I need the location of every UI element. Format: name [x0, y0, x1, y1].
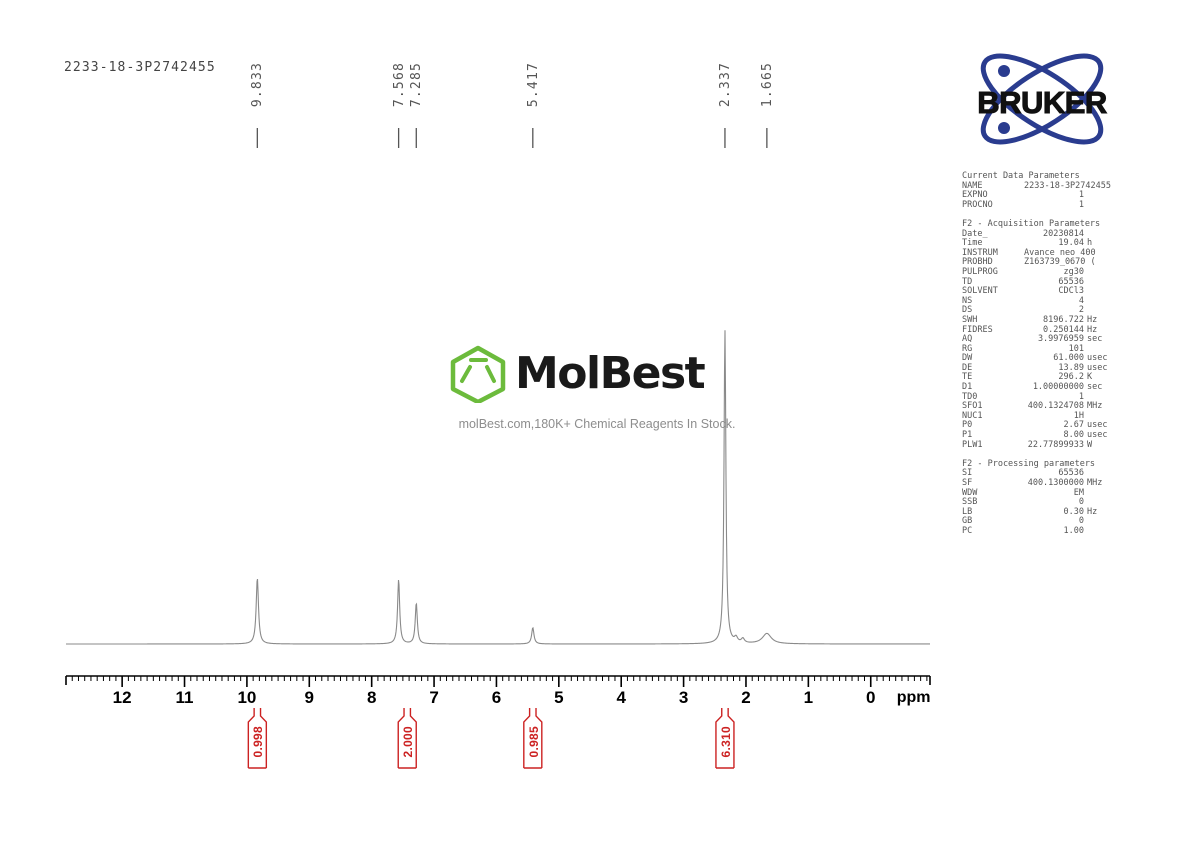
param-row: SFO1400.1324708MHz: [962, 402, 1117, 412]
peak-label-7.285: 7.285: [409, 62, 424, 107]
param-value: 1.00000000: [1024, 383, 1084, 393]
param-value: 1.00: [1024, 527, 1084, 537]
axis-tick-2: 2: [741, 688, 750, 708]
param-row: AQ3.9976959sec: [962, 335, 1117, 345]
peak-label-1.665: 1.665: [760, 62, 775, 107]
axis-unit-label: ppm: [897, 689, 931, 707]
peak-label-7.568: 7.568: [392, 62, 407, 107]
bruker-wordmark: BRUKER: [962, 85, 1122, 121]
param-unit: MHz: [1084, 402, 1117, 412]
param-unit: [1111, 182, 1144, 192]
param-unit: [1084, 287, 1117, 297]
param-row: LB0.30Hz: [962, 508, 1117, 518]
param-unit: [1084, 201, 1117, 211]
integral-value-6.310: 6.310: [719, 726, 733, 758]
axis-tick-9: 9: [305, 688, 314, 708]
param-unit: [1084, 191, 1117, 201]
molbest-watermark: MolBest molBest.com,180K+ Chemical Reage…: [447, 345, 747, 431]
molbest-wordmark: MolBest: [515, 352, 704, 396]
peak-tick-marks: [257, 128, 767, 148]
param-value: 2233-18-3P2742455: [1024, 182, 1111, 192]
integral-value-0.998: 0.998: [251, 726, 265, 758]
param-unit: [1096, 249, 1129, 259]
param-row: NS4: [962, 297, 1117, 307]
ppm-axis: [66, 676, 930, 687]
axis-tick-11: 11: [176, 688, 194, 708]
axis-tick-10: 10: [237, 688, 256, 708]
param-unit: [1084, 517, 1117, 527]
axis-tick-5: 5: [554, 688, 563, 708]
axis-tick-3: 3: [679, 688, 688, 708]
integral-value-0.985: 0.985: [527, 726, 541, 758]
peak-label-2.337: 2.337: [718, 62, 733, 107]
param-row: GB0: [962, 517, 1117, 527]
param-row: PC1.00: [962, 527, 1117, 537]
param-unit: sec: [1084, 383, 1117, 393]
param-unit: [1084, 268, 1117, 278]
axis-tick-12: 12: [113, 688, 132, 708]
nmr-spectrum-page: 2233-18-3P2742455 9.8337.5687.2855.4172.…: [0, 0, 1190, 842]
param-unit: [1096, 258, 1129, 268]
peak-label-5.417: 5.417: [526, 62, 541, 107]
axis-tick-1: 1: [804, 688, 813, 708]
axis-tick-8: 8: [367, 688, 376, 708]
param-row: SF400.1300000MHz: [962, 479, 1117, 489]
param-row: WDWEM: [962, 489, 1117, 499]
param-unit: [1084, 527, 1117, 537]
param-row: SOLVENTCDCl3: [962, 287, 1117, 297]
integral-brackets: [248, 708, 734, 768]
param-unit: Hz: [1084, 508, 1117, 518]
param-row: PROCNO1: [962, 201, 1117, 211]
param-key: PROCNO: [962, 201, 1024, 211]
acquisition-parameters-block: Current Data ParametersNAME2233-18-3P274…: [962, 172, 1117, 537]
param-row: PLW122.77899933W: [962, 441, 1117, 451]
hexagon-benzene-icon: [447, 345, 509, 403]
param-value: 4: [1024, 297, 1084, 307]
param-unit: W: [1084, 441, 1117, 451]
param-key: PLW1: [962, 441, 1024, 451]
param-value: 1: [1024, 201, 1084, 211]
param-unit: [1084, 489, 1117, 499]
param-value: CDCl3: [1024, 287, 1084, 297]
param-value: Z163739_0670 (: [1024, 258, 1096, 268]
axis-tick-4: 4: [616, 688, 625, 708]
param-value: 0.30: [1024, 508, 1084, 518]
page-title: 2233-18-3P2742455: [64, 60, 216, 75]
axis-tick-6: 6: [492, 688, 501, 708]
param-row: DE13.89usec: [962, 364, 1117, 374]
param-row: PULPROGzg30: [962, 268, 1117, 278]
param-row: Date_20230814: [962, 230, 1117, 240]
param-value: EM: [1024, 489, 1084, 499]
molbest-tagline: molBest.com,180K+ Chemical Reagents In S…: [447, 417, 747, 431]
param-key: PC: [962, 527, 1024, 537]
param-value: 1: [1024, 191, 1084, 201]
axis-tick-7: 7: [429, 688, 438, 708]
param-unit: [1084, 278, 1117, 288]
integral-value-2.000: 2.000: [401, 726, 415, 758]
peak-label-9.833: 9.833: [250, 62, 265, 107]
param-unit: sec: [1084, 335, 1117, 345]
param-row: D11.00000000sec: [962, 383, 1117, 393]
param-unit: [1084, 297, 1117, 307]
params-section-heading: F2 - Processing parameters: [962, 460, 1117, 470]
param-unit: MHz: [1084, 479, 1117, 489]
param-value: 22.77899933: [1024, 441, 1084, 451]
axis-tick-0: 0: [866, 688, 875, 708]
